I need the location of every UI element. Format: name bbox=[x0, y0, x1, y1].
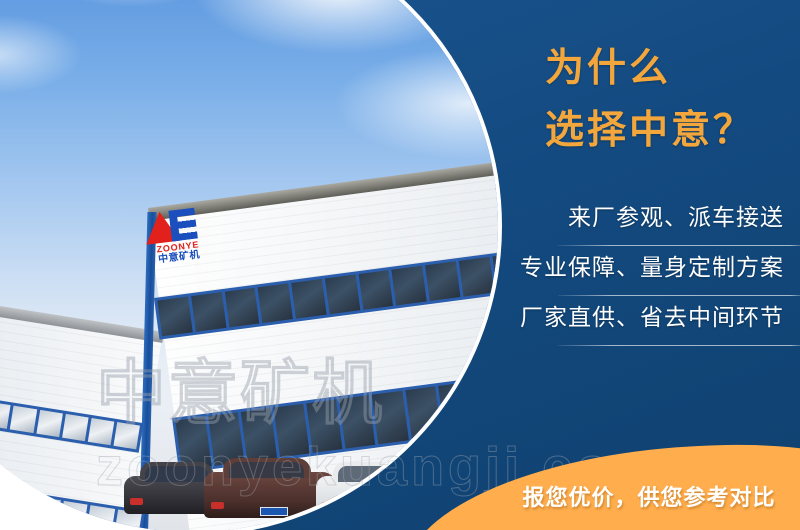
factory-photo-circle: ZOONYE 中意矿机 bbox=[0, 0, 502, 530]
headline-line-2: 选择中意？ bbox=[545, 100, 755, 162]
headline: 为什么 选择中意？ bbox=[545, 38, 755, 162]
feature-item: 来厂参观、派车接送 bbox=[520, 198, 800, 248]
letter-e-icon bbox=[168, 208, 198, 242]
feature-divider bbox=[558, 345, 800, 346]
feature-text: 专业保障、量身定制方案 bbox=[520, 248, 800, 288]
factory-photo-image: ZOONYE 中意矿机 bbox=[0, 0, 498, 530]
headline-line-1: 为什么 bbox=[545, 46, 671, 91]
wall-logo: ZOONYE 中意矿机 bbox=[130, 203, 223, 277]
feature-item: 专业保障、量身定制方案 bbox=[520, 248, 800, 298]
feature-item: 厂家直供、省去中间环节 bbox=[520, 298, 800, 348]
feature-list: 来厂参观、派车接送 专业保障、量身定制方案 厂家直供、省去中间环节 bbox=[520, 198, 800, 348]
feature-text: 来厂参观、派车接送 bbox=[520, 198, 800, 238]
feature-divider bbox=[558, 295, 800, 296]
promo-banner: ZOONYE 中意矿机 bbox=[0, 0, 800, 530]
cta-text[interactable]: 报您优价，供您参考对比 bbox=[498, 484, 800, 514]
feature-divider bbox=[558, 245, 800, 246]
feature-text: 厂家直供、省去中间环节 bbox=[520, 298, 800, 338]
